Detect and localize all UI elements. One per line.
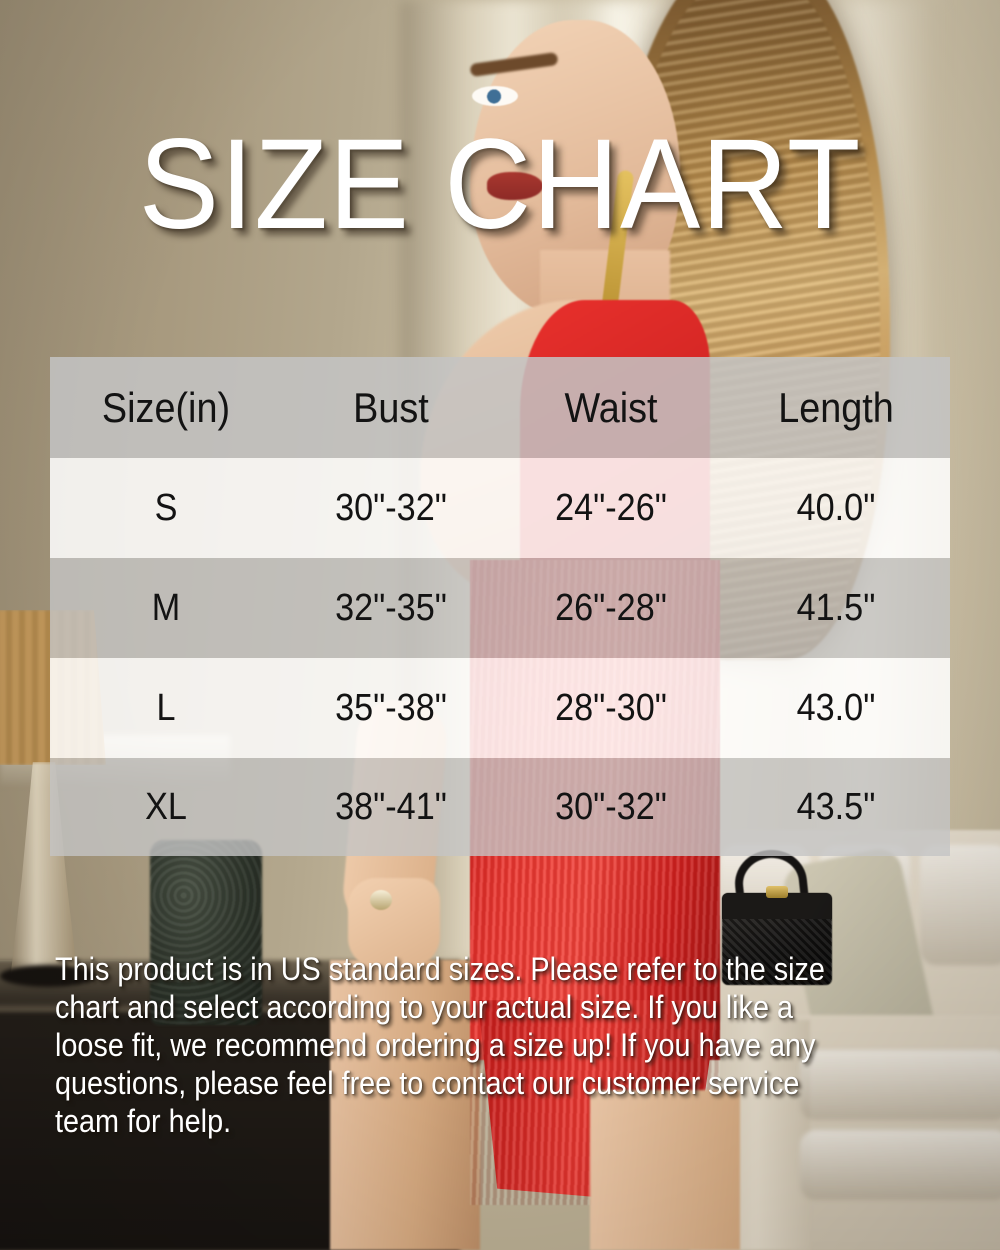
cell-length: 43.5" [733,786,938,829]
table-row: L 35"-38" 28"-30" 43.0" [50,658,950,758]
cell-length: 40.0" [733,487,938,530]
cell-length: 41.5" [733,587,938,630]
cell-waist: 26"-28" [511,587,711,630]
table-row: M 32"-35" 26"-28" 41.5" [50,558,950,658]
cell-waist: 30"-32" [511,786,711,829]
sizing-disclaimer: This product is in US standard sizes. Pl… [55,950,856,1140]
size-chart-graphic: SIZE CHART Size(in) Bust Waist Length S … [0,0,1000,1250]
column-header-length: Length [733,384,938,432]
page-title: SIZE CHART [30,130,970,240]
cell-waist: 28"-30" [511,687,711,730]
cell-size: M [62,587,271,630]
cell-bust: 35"-38" [293,687,489,730]
table-header-row: Size(in) Bust Waist Length [50,357,950,458]
cell-size: S [62,487,271,530]
size-table: Size(in) Bust Waist Length S 30"-32" 24"… [50,357,950,856]
cell-waist: 24"-26" [511,487,711,530]
cell-bust: 32"-35" [293,587,489,630]
cell-size: XL [62,786,271,829]
table-row: S 30"-32" 24"-26" 40.0" [50,458,950,558]
cell-length: 43.0" [733,687,938,730]
column-header-waist: Waist [511,384,711,432]
column-header-bust: Bust [293,384,489,432]
cell-bust: 30"-32" [293,487,489,530]
table-row: XL 38"-41" 30"-32" 43.5" [50,758,950,856]
cell-size: L [62,687,271,730]
cell-bust: 38"-41" [293,786,489,829]
column-header-size: Size(in) [62,384,271,432]
